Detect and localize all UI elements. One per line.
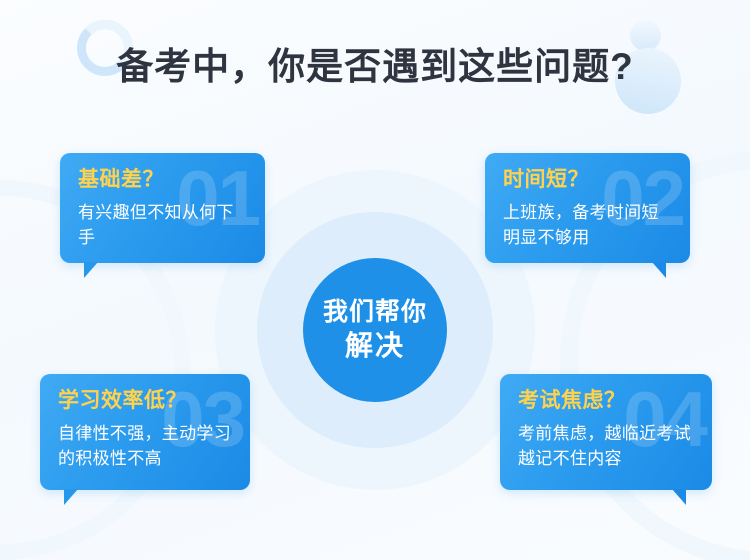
problem-card-1[interactable]: 01 基础差？ 有兴趣但不知从何下手 [60, 153, 265, 263]
problem-card-4-tail-icon [672, 489, 686, 505]
promo-banner: 备考中，你是否遇到这些问题? 我们帮你 解决 01 基础差？ 有兴趣但不知从何下… [0, 0, 750, 560]
problem-card-1-body: 有兴趣但不知从何下手 [78, 201, 247, 250]
problem-card-3-body: 自律性不强，主动学习的积极性不高 [58, 422, 232, 471]
problem-card-4-body: 考前焦虑，越临近考试越记不住内容 [518, 422, 694, 471]
problem-card-4-heading: 考试焦虑？ [518, 388, 694, 414]
problem-card-3-heading: 学习效率低？ [58, 388, 232, 414]
problem-card-3-content: 学习效率低？ 自律性不强，主动学习的积极性不高 [40, 374, 250, 484]
center-badge-line1: 我们帮你 [323, 297, 427, 328]
problem-card-2[interactable]: 02 时间短？ 上班族，备考时间短明显不够用 [485, 153, 690, 263]
problem-card-1-heading: 基础差？ [78, 167, 247, 193]
problem-card-3[interactable]: 03 学习效率低？ 自律性不强，主动学习的积极性不高 [40, 374, 250, 490]
problem-card-3-tail-icon [64, 489, 78, 505]
problem-card-4[interactable]: 04 考试焦虑？ 考前焦虑，越临近考试越记不住内容 [500, 374, 712, 490]
problem-card-2-tail-icon [652, 262, 666, 278]
problem-card-2-body: 上班族，备考时间短明显不够用 [503, 201, 672, 250]
problem-card-4-content: 考试焦虑？ 考前焦虑，越临近考试越记不住内容 [500, 374, 712, 484]
page-title: 备考中，你是否遇到这些问题? [0, 36, 750, 90]
problem-card-1-tail-icon [84, 262, 98, 278]
problem-card-1-content: 基础差？ 有兴趣但不知从何下手 [60, 153, 265, 263]
problem-card-2-heading: 时间短？ [503, 167, 672, 193]
center-badge: 我们帮你 解决 [303, 258, 447, 402]
problem-card-2-content: 时间短？ 上班族，备考时间短明显不够用 [485, 153, 690, 263]
center-badge-line2: 解决 [345, 328, 405, 363]
